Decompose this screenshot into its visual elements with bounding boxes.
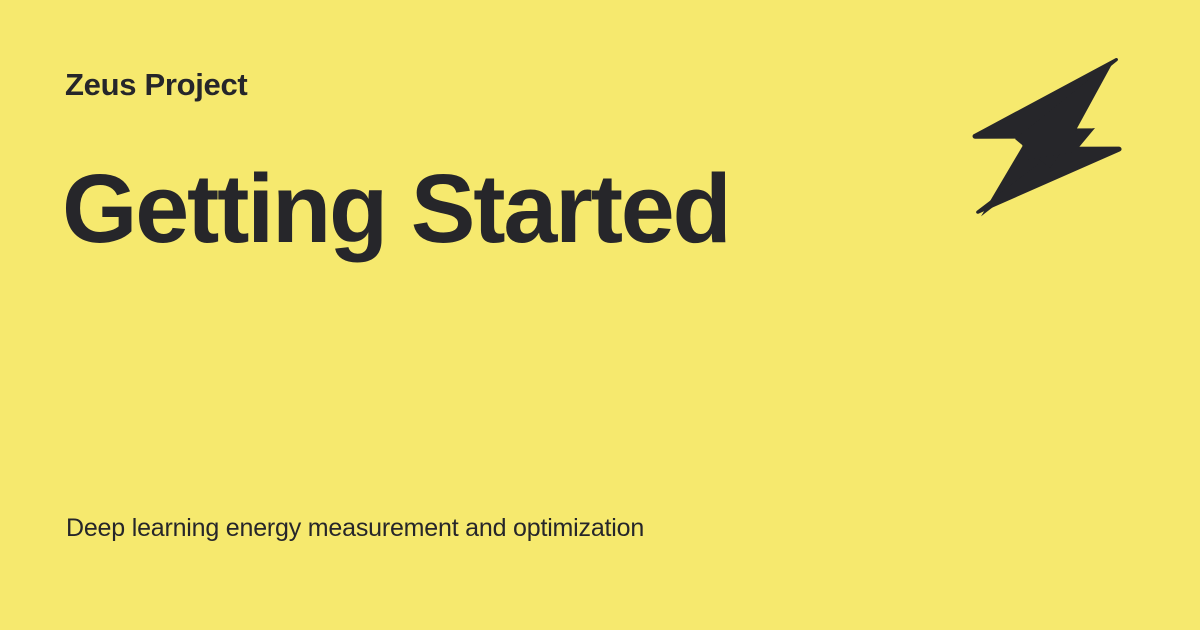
tagline: Deep learning energy measurement and opt… — [66, 513, 644, 543]
social-preview-card: Zeus Project Getting Started Deep learni… — [0, 0, 1200, 630]
site-name: Zeus Project — [65, 68, 247, 102]
page-title: Getting Started — [62, 160, 730, 259]
zeus-lightning-bolt-logo-icon — [955, 40, 1140, 235]
